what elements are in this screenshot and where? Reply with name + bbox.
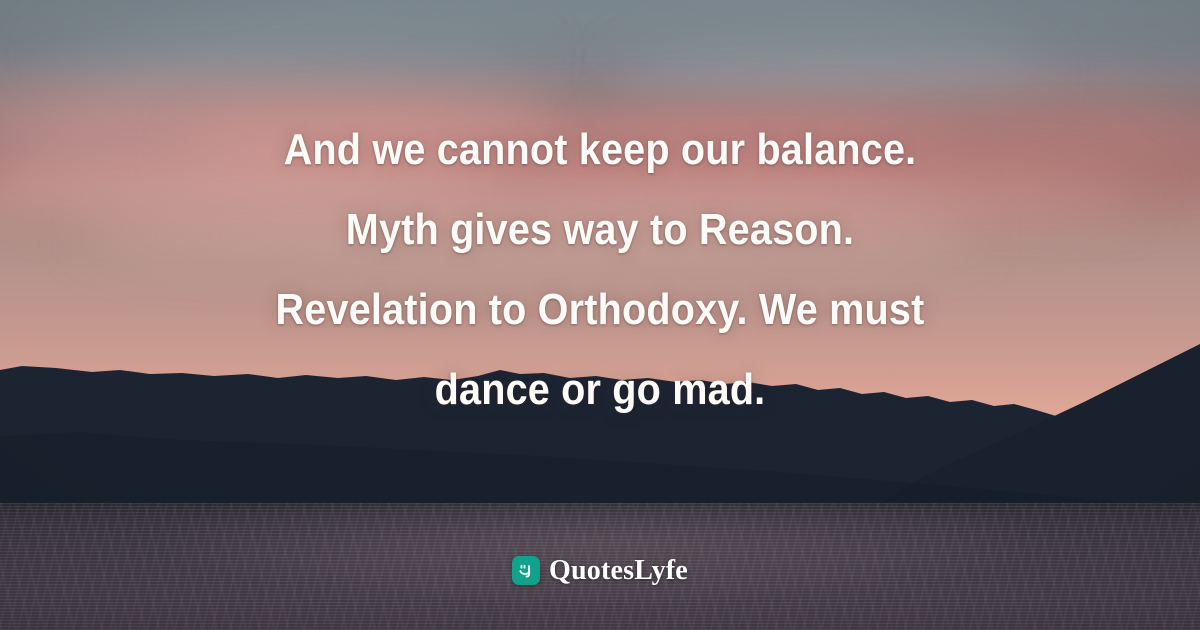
brand-name: QuotesLyfe [549,557,688,585]
quote-container: And we cannot keep our balance. Myth giv… [0,0,1200,540]
quote-card: And we cannot keep our balance. Myth giv… [0,0,1200,630]
quote-text: And we cannot keep our balance. Myth giv… [240,110,960,430]
quote-smiley-icon [512,556,540,585]
brand-watermark[interactable]: QuotesLyfe [0,556,1200,585]
